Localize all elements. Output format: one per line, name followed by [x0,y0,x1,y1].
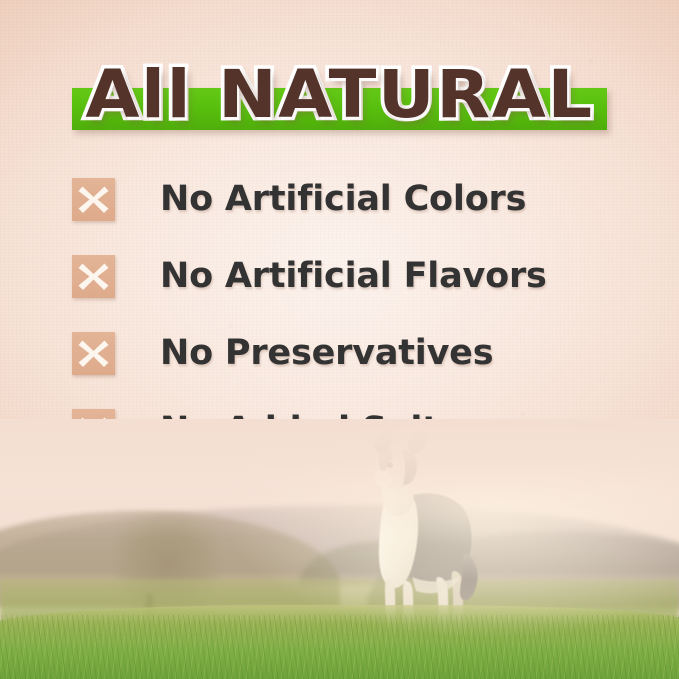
claim-label: No Preservatives [160,332,493,375]
title-banner: All NATURAL [0,50,679,140]
claim-item: No Preservatives [72,332,632,375]
landscape-photo [0,419,679,679]
grass-texture [0,615,679,679]
claim-label: No Artificial Colors [160,178,526,221]
claim-label: No Artificial Flavors [160,255,547,298]
all-natural-benefits-poster: All NATURAL No Artificial Colors No Arti… [0,0,679,679]
x-mark-icon [72,255,115,298]
banner-title-text: All NATURAL [0,50,679,140]
claim-item: No Artificial Colors [72,178,632,221]
claim-item: No Artificial Flavors [72,255,632,298]
x-mark-icon [72,332,115,375]
x-mark-icon [72,178,115,221]
